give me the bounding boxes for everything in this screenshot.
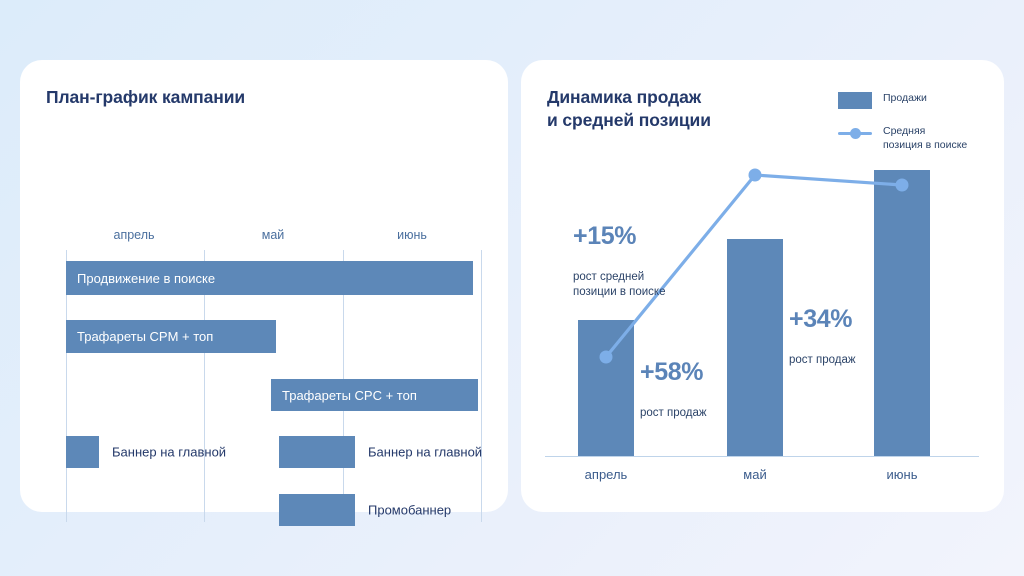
gantt-bar-stencils-cpm[interactable]: Трафареты CPM + топ xyxy=(66,320,276,353)
gantt-month-label-june: июнь xyxy=(397,228,427,242)
gantt-bar-stencils-cpc[interactable]: Трафареты CPC + топ xyxy=(271,379,478,411)
gantt-chart: апрель май июнь Продвижение в поиске Тра… xyxy=(20,60,508,512)
annotation-avg-position-growth: +15% рост средней позиции в поиске xyxy=(573,205,665,318)
sales-dynamics-card: Динамика продаж и средней позиции Продаж… xyxy=(521,60,1004,512)
x-axis-label-june: июнь xyxy=(887,467,918,482)
annotation-subtext: рост продаж xyxy=(789,353,856,368)
gantt-bar-label: Трафареты CPC + топ xyxy=(271,388,417,403)
gantt-month-label-may: май xyxy=(262,228,285,242)
avg-position-marker-may[interactable] xyxy=(749,169,762,182)
annotation-percent: +15% xyxy=(573,223,665,249)
gantt-bar-promotion-in-search[interactable]: Продвижение в поиске xyxy=(66,261,473,295)
sales-combo-chart: +15% рост средней позиции в поиске +58% … xyxy=(521,60,1004,512)
gantt-bar-promo-banner[interactable] xyxy=(279,494,355,526)
x-axis-label-may: май xyxy=(743,467,766,482)
gantt-bar-main-banner-april[interactable] xyxy=(66,436,99,468)
gantt-bar-label: Баннер на главной xyxy=(368,445,482,460)
gantt-bar-label: Трафареты CPM + топ xyxy=(66,329,213,344)
annotation-subtext: рост средней позиции в поиске xyxy=(573,270,665,299)
avg-position-marker-april[interactable] xyxy=(600,351,613,364)
gantt-gridline xyxy=(481,250,482,522)
gantt-bar-label: Продвижение в поиске xyxy=(66,271,215,286)
annotation-subtext: рост продаж xyxy=(640,406,707,421)
avg-position-marker-june[interactable] xyxy=(896,179,909,192)
annotation-percent: +58% xyxy=(640,359,707,385)
gantt-bar-label: Баннер на главной xyxy=(112,445,226,460)
annotation-sales-growth-may-june: +34% рост продаж xyxy=(789,288,856,386)
gantt-bar-main-banner-may[interactable] xyxy=(279,436,355,468)
gantt-bar-label: Промобаннер xyxy=(368,503,451,518)
annotation-percent: +34% xyxy=(789,306,856,332)
annotation-sales-growth-april-may: +58% рост продаж xyxy=(640,341,707,439)
infographic-stage: План-график кампании апрель май июнь Про… xyxy=(0,0,1024,576)
gantt-month-label-april: апрель xyxy=(113,228,154,242)
campaign-schedule-card: План-график кампании апрель май июнь Про… xyxy=(20,60,508,512)
x-axis-label-april: апрель xyxy=(585,467,628,482)
